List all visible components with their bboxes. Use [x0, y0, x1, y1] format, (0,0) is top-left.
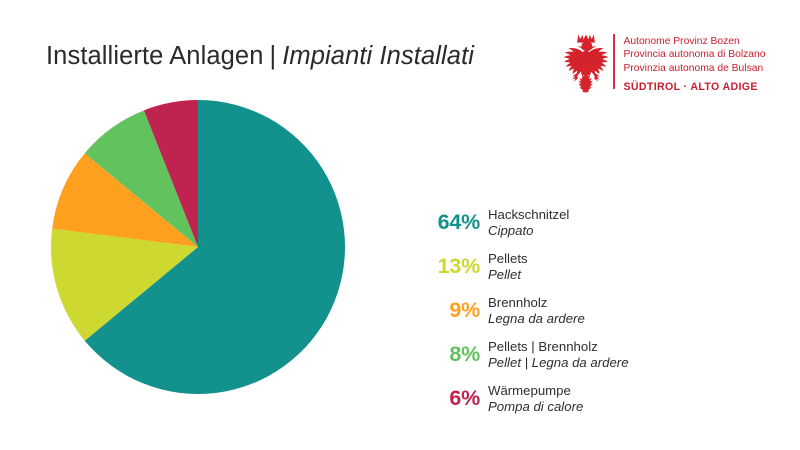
logo-line-german: Autonome Provinz Bozen [624, 35, 766, 48]
legend-label-block: Pellets | Brennholz Pellet | Legna da ar… [488, 338, 629, 370]
province-logo: Autonome Provinz Bozen Provincia autonom… [563, 31, 783, 99]
logo-subtitle: SÜDTIROL · ALTO ADIGE [624, 80, 766, 94]
page-title-italian: Impianti Installati [282, 42, 474, 70]
legend-label-italian: Cippato [488, 223, 569, 239]
pie-chart-svg [50, 99, 346, 395]
page-title-german: Installierte Anlagen [46, 42, 263, 70]
legend-label-block: Brennholz Legna da ardere [488, 294, 585, 326]
legend-label-italian: Pompa di calore [488, 399, 583, 415]
legend-percent: 13% [424, 250, 480, 278]
legend-item[interactable]: 64% Hackschnitzel Cippato [424, 206, 754, 238]
legend-item[interactable]: 13% Pellets Pellet [424, 250, 754, 282]
legend-label-german: Brennholz [488, 295, 585, 311]
south-tyrol-eagle-icon [563, 31, 609, 93]
pie-slice-group [51, 100, 345, 394]
pie-chart [50, 99, 346, 395]
legend-label-block: Wärmepumpe Pompa di calore [488, 382, 583, 414]
chart-legend: 64% Hackschnitzel Cippato 13% Pellets Pe… [424, 206, 754, 414]
legend-percent: 8% [424, 338, 480, 366]
logo-divider [613, 34, 615, 89]
legend-item[interactable]: 9% Brennholz Legna da ardere [424, 294, 754, 326]
page-title-separator: | [263, 42, 282, 70]
legend-label-german: Wärmepumpe [488, 383, 583, 399]
legend-label-italian: Pellet [488, 267, 528, 283]
legend-item[interactable]: 6% Wärmepumpe Pompa di calore [424, 382, 754, 414]
legend-label-german: Pellets | Brennholz [488, 339, 629, 355]
logo-text-block: Autonome Provinz Bozen Provincia autonom… [624, 31, 766, 94]
legend-item[interactable]: 8% Pellets | Brennholz Pellet | Legna da… [424, 338, 754, 370]
legend-label-german: Hackschnitzel [488, 207, 569, 223]
legend-percent: 6% [424, 382, 480, 410]
legend-percent: 9% [424, 294, 480, 322]
legend-percent: 64% [424, 206, 480, 234]
logo-line-ladin: Provinzia autonoma de Bulsan [624, 62, 766, 75]
page-title: Installierte Anlagen|Impianti Installati [46, 40, 474, 72]
legend-label-italian: Pellet | Legna da ardere [488, 355, 629, 371]
legend-label-block: Hackschnitzel Cippato [488, 206, 569, 238]
legend-label-german: Pellets [488, 251, 528, 267]
logo-line-italian: Provincia autonoma di Bolzano [624, 48, 766, 61]
legend-label-italian: Legna da ardere [488, 311, 585, 327]
legend-label-block: Pellets Pellet [488, 250, 528, 282]
